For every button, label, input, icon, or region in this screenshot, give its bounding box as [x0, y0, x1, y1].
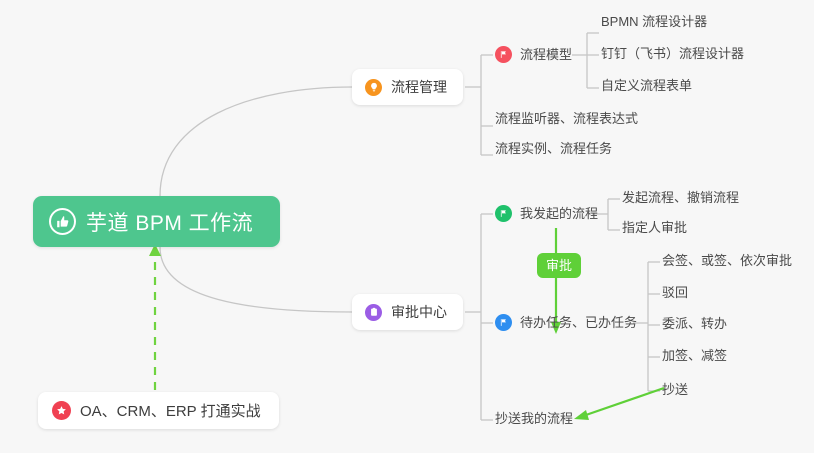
leaf-label-countersign: 会签、或签、依次审批 [662, 253, 792, 268]
leaf-reject[interactable]: 驳回 [662, 285, 688, 305]
star-icon [52, 401, 71, 420]
root-node[interactable]: 芋道 BPM 工作流 [33, 196, 280, 247]
flag-icon [495, 314, 512, 331]
lightbulb-icon [365, 79, 382, 96]
leaf-label-dingtalk-designer: 钉钉（飞书）流程设计器 [601, 46, 744, 61]
leaf-label-todo-done-tasks: 待办任务、已办任务 [520, 315, 637, 330]
leaf-cc[interactable]: 抄送 [662, 382, 688, 402]
leaf-label-flow-listener: 流程监听器、流程表达式 [495, 111, 638, 126]
leaf-label-bpmn-designer: BPMN 流程设计器 [601, 14, 707, 29]
branch-label-approval-center: 审批中心 [391, 302, 447, 322]
leaf-label-custom-form: 自定义流程表单 [601, 78, 692, 93]
leaf-label-flow-model: 流程模型 [520, 47, 572, 62]
leaf-label-assigned-approver: 指定人审批 [622, 220, 687, 235]
flag-icon [495, 205, 512, 222]
integration-dashed-arrow [149, 244, 161, 390]
mindmap-canvas: 芋道 BPM 工作流 流程管理 流程模型 BPMN 流程设计器 钉钉（飞书）流程… [0, 0, 814, 453]
leaf-assigned-approver[interactable]: 指定人审批 [622, 220, 687, 240]
wire-root-to-flow-management [160, 87, 352, 196]
integration-node-label: OA、CRM、ERP 打通实战 [80, 400, 261, 421]
leaf-flow-instance[interactable]: 流程实例、流程任务 [495, 141, 612, 161]
branch-node-approval-center[interactable]: 审批中心 [352, 294, 463, 330]
leaf-dingtalk-designer[interactable]: 钉钉（飞书）流程设计器 [601, 46, 744, 66]
leaf-todo-done-tasks[interactable]: 待办任务、已办任务 [495, 314, 637, 336]
leaf-label-cc-to-me: 抄送我的流程 [495, 411, 573, 426]
leaf-custom-form[interactable]: 自定义流程表单 [601, 78, 692, 98]
branch-label-flow-management: 流程管理 [391, 77, 447, 97]
root-label: 芋道 BPM 工作流 [86, 207, 253, 237]
thumbs-up-icon [49, 208, 76, 235]
leaf-start-cancel-flow[interactable]: 发起流程、撤销流程 [622, 190, 739, 210]
leaf-flow-model[interactable]: 流程模型 [495, 46, 572, 68]
clipboard-icon [365, 304, 382, 321]
leaf-label-start-cancel-flow: 发起流程、撤销流程 [622, 190, 739, 205]
leaf-label-reject: 驳回 [662, 285, 688, 300]
wire-root-to-approval-center [160, 247, 352, 312]
branch-node-flow-management[interactable]: 流程管理 [352, 69, 463, 105]
cc-flow-arrow [574, 388, 664, 420]
approval-badge: 审批 [537, 253, 581, 278]
flag-icon [495, 46, 512, 63]
leaf-delegate-transfer[interactable]: 委派、转办 [662, 316, 727, 336]
leaf-bpmn-designer[interactable]: BPMN 流程设计器 [601, 14, 707, 34]
leaf-cc-to-me[interactable]: 抄送我的流程 [495, 411, 573, 431]
leaf-countersign[interactable]: 会签、或签、依次审批 [662, 253, 792, 273]
leaf-my-started-flows[interactable]: 我发起的流程 [495, 205, 598, 227]
leaf-label-flow-instance: 流程实例、流程任务 [495, 141, 612, 156]
leaf-add-remove-sign[interactable]: 加签、减签 [662, 348, 727, 368]
leaf-label-delegate-transfer: 委派、转办 [662, 316, 727, 331]
approval-badge-label: 审批 [546, 258, 572, 273]
leaf-label-add-remove-sign: 加签、减签 [662, 348, 727, 363]
leaf-label-cc: 抄送 [662, 382, 688, 397]
leaf-label-my-started-flows: 我发起的流程 [520, 206, 598, 221]
leaf-flow-listener[interactable]: 流程监听器、流程表达式 [495, 111, 638, 131]
integration-node[interactable]: OA、CRM、ERP 打通实战 [38, 392, 279, 429]
